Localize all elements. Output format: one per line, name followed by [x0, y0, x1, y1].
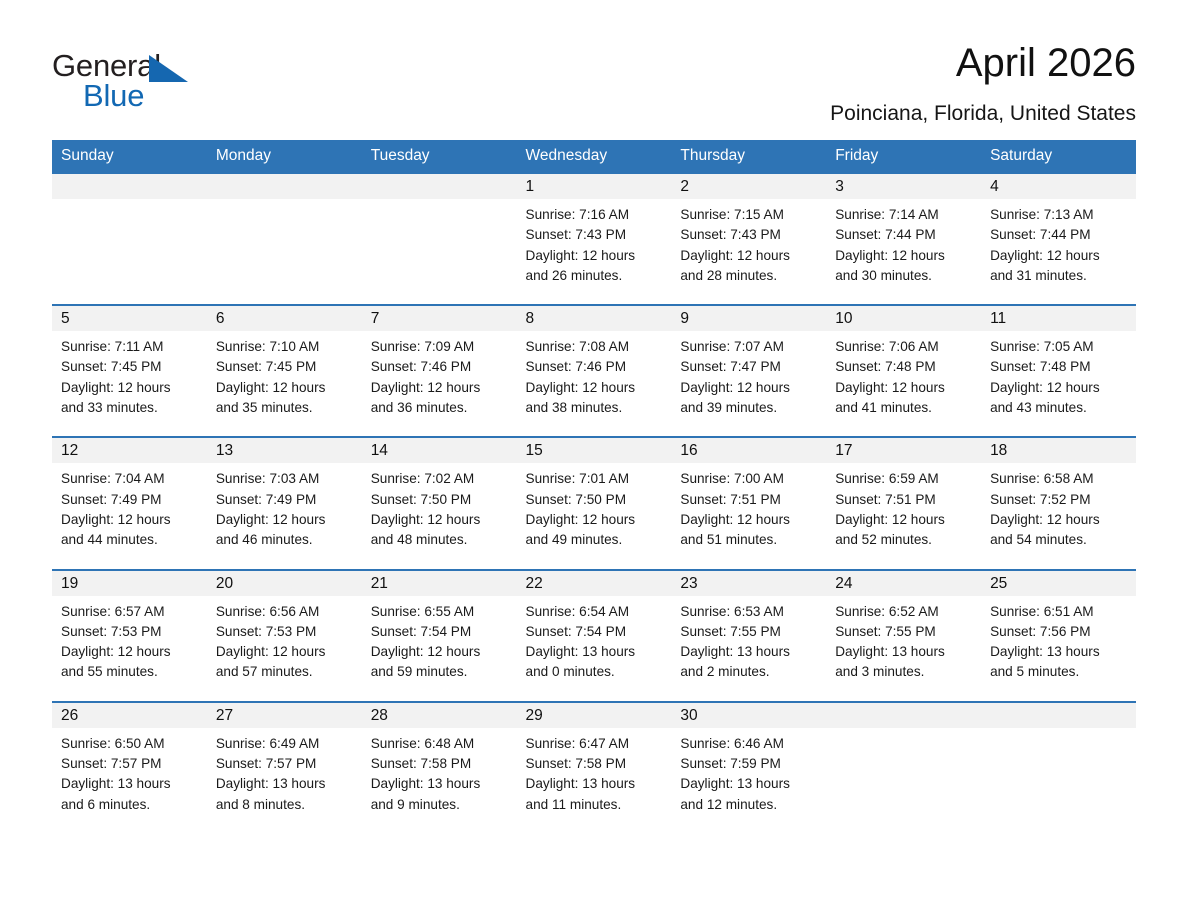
day-detail-daylight2: and 31 minutes.	[990, 266, 1127, 286]
calendar-day-cell[interactable]: 15Sunrise: 7:01 AMSunset: 7:50 PMDayligh…	[517, 437, 672, 569]
day-detail-sunset: Sunset: 7:46 PM	[371, 357, 508, 377]
day-details	[826, 728, 981, 813]
day-detail-sunset: Sunset: 7:43 PM	[680, 225, 817, 245]
calendar-day-cell[interactable]: 6Sunrise: 7:10 AMSunset: 7:45 PMDaylight…	[207, 305, 362, 437]
day-number: 16	[671, 438, 826, 463]
day-detail-daylight2: and 28 minutes.	[680, 266, 817, 286]
day-details: Sunrise: 6:56 AMSunset: 7:53 PMDaylight:…	[207, 596, 362, 701]
day-detail-daylight2: and 51 minutes.	[680, 530, 817, 550]
calendar-head: Sunday Monday Tuesday Wednesday Thursday…	[52, 140, 1136, 173]
day-detail-daylight2: and 12 minutes.	[680, 795, 817, 815]
day-detail-daylight2: and 46 minutes.	[216, 530, 353, 550]
day-number: 23	[671, 571, 826, 596]
day-detail-sunrise: Sunrise: 6:59 AM	[835, 469, 972, 489]
day-detail-sunrise: Sunrise: 7:13 AM	[990, 205, 1127, 225]
day-details: Sunrise: 6:46 AMSunset: 7:59 PMDaylight:…	[671, 728, 826, 833]
day-details: Sunrise: 6:48 AMSunset: 7:58 PMDaylight:…	[362, 728, 517, 833]
day-details: Sunrise: 7:01 AMSunset: 7:50 PMDaylight:…	[517, 463, 672, 568]
day-details: Sunrise: 6:50 AMSunset: 7:57 PMDaylight:…	[52, 728, 207, 833]
day-detail-sunset: Sunset: 7:53 PM	[216, 622, 353, 642]
day-number: 11	[981, 306, 1136, 331]
calendar-day-cell[interactable]: 18Sunrise: 6:58 AMSunset: 7:52 PMDayligh…	[981, 437, 1136, 569]
day-details: Sunrise: 6:51 AMSunset: 7:56 PMDaylight:…	[981, 596, 1136, 701]
day-detail-sunrise: Sunrise: 6:57 AM	[61, 602, 198, 622]
day-detail-sunset: Sunset: 7:52 PM	[990, 490, 1127, 510]
day-number: 21	[362, 571, 517, 596]
day-detail-daylight1: Daylight: 12 hours	[371, 642, 508, 662]
day-detail-sunset: Sunset: 7:50 PM	[371, 490, 508, 510]
day-number: 2	[671, 174, 826, 199]
title-block: April 2026 Poinciana, Florida, United St…	[830, 40, 1136, 126]
weekday-header-wednesday: Wednesday	[517, 140, 672, 173]
calendar-day-cell[interactable]: 26Sunrise: 6:50 AMSunset: 7:57 PMDayligh…	[52, 702, 207, 833]
day-detail-sunrise: Sunrise: 6:48 AM	[371, 734, 508, 754]
day-detail-sunset: Sunset: 7:47 PM	[680, 357, 817, 377]
day-detail-sunrise: Sunrise: 6:58 AM	[990, 469, 1127, 489]
calendar-empty-cell	[981, 702, 1136, 833]
day-number: 4	[981, 174, 1136, 199]
day-detail-sunrise: Sunrise: 6:49 AM	[216, 734, 353, 754]
day-detail-sunset: Sunset: 7:58 PM	[371, 754, 508, 774]
calendar-day-cell[interactable]: 23Sunrise: 6:53 AMSunset: 7:55 PMDayligh…	[671, 570, 826, 702]
day-detail-daylight1: Daylight: 12 hours	[835, 246, 972, 266]
day-details: Sunrise: 7:04 AMSunset: 7:49 PMDaylight:…	[52, 463, 207, 568]
calendar-day-cell[interactable]: 17Sunrise: 6:59 AMSunset: 7:51 PMDayligh…	[826, 437, 981, 569]
calendar-body: 1Sunrise: 7:16 AMSunset: 7:43 PMDaylight…	[52, 173, 1136, 833]
day-detail-sunrise: Sunrise: 6:50 AM	[61, 734, 198, 754]
day-detail-sunset: Sunset: 7:57 PM	[216, 754, 353, 774]
day-number: 7	[362, 306, 517, 331]
day-detail-daylight1: Daylight: 13 hours	[526, 774, 663, 794]
day-detail-sunset: Sunset: 7:49 PM	[61, 490, 198, 510]
calendar-day-cell[interactable]: 16Sunrise: 7:00 AMSunset: 7:51 PMDayligh…	[671, 437, 826, 569]
calendar-day-cell[interactable]: 9Sunrise: 7:07 AMSunset: 7:47 PMDaylight…	[671, 305, 826, 437]
day-detail-sunset: Sunset: 7:48 PM	[835, 357, 972, 377]
day-detail-daylight2: and 9 minutes.	[371, 795, 508, 815]
day-detail-daylight1: Daylight: 12 hours	[835, 510, 972, 530]
calendar-day-cell[interactable]: 3Sunrise: 7:14 AMSunset: 7:44 PMDaylight…	[826, 173, 981, 305]
day-detail-daylight2: and 26 minutes.	[526, 266, 663, 286]
day-detail-daylight2: and 52 minutes.	[835, 530, 972, 550]
day-detail-daylight2: and 5 minutes.	[990, 662, 1127, 682]
day-number: 18	[981, 438, 1136, 463]
day-number: 28	[362, 703, 517, 728]
day-details	[207, 199, 362, 284]
calendar-week-row: 26Sunrise: 6:50 AMSunset: 7:57 PMDayligh…	[52, 702, 1136, 833]
day-details: Sunrise: 6:57 AMSunset: 7:53 PMDaylight:…	[52, 596, 207, 701]
day-number	[207, 174, 362, 199]
day-detail-sunrise: Sunrise: 6:54 AM	[526, 602, 663, 622]
day-detail-sunset: Sunset: 7:43 PM	[526, 225, 663, 245]
day-details: Sunrise: 7:08 AMSunset: 7:46 PMDaylight:…	[517, 331, 672, 436]
day-detail-sunrise: Sunrise: 6:52 AM	[835, 602, 972, 622]
day-detail-sunrise: Sunrise: 7:16 AM	[526, 205, 663, 225]
day-detail-daylight1: Daylight: 12 hours	[216, 642, 353, 662]
day-details: Sunrise: 7:05 AMSunset: 7:48 PMDaylight:…	[981, 331, 1136, 436]
day-detail-daylight1: Daylight: 12 hours	[371, 378, 508, 398]
day-number: 9	[671, 306, 826, 331]
day-detail-sunrise: Sunrise: 7:06 AM	[835, 337, 972, 357]
day-detail-daylight1: Daylight: 12 hours	[680, 510, 817, 530]
day-number: 26	[52, 703, 207, 728]
calendar-day-cell[interactable]: 7Sunrise: 7:09 AMSunset: 7:46 PMDaylight…	[362, 305, 517, 437]
calendar-week-row: 5Sunrise: 7:11 AMSunset: 7:45 PMDaylight…	[52, 305, 1136, 437]
day-detail-daylight2: and 11 minutes.	[526, 795, 663, 815]
day-number: 29	[517, 703, 672, 728]
day-detail-daylight2: and 36 minutes.	[371, 398, 508, 418]
day-number: 30	[671, 703, 826, 728]
day-number: 24	[826, 571, 981, 596]
day-detail-daylight2: and 2 minutes.	[680, 662, 817, 682]
day-detail-sunrise: Sunrise: 7:01 AM	[526, 469, 663, 489]
calendar-page: General Blue April 2026 Poinciana, Flori…	[0, 0, 1188, 918]
day-number	[52, 174, 207, 199]
day-number	[826, 703, 981, 728]
day-detail-sunset: Sunset: 7:55 PM	[680, 622, 817, 642]
day-number	[981, 703, 1136, 728]
day-number: 25	[981, 571, 1136, 596]
calendar-empty-cell	[52, 173, 207, 305]
day-detail-sunset: Sunset: 7:51 PM	[680, 490, 817, 510]
day-details: Sunrise: 7:00 AMSunset: 7:51 PMDaylight:…	[671, 463, 826, 568]
weekday-header-monday: Monday	[207, 140, 362, 173]
weekday-header-tuesday: Tuesday	[362, 140, 517, 173]
day-detail-sunset: Sunset: 7:45 PM	[216, 357, 353, 377]
calendar-day-cell[interactable]: 14Sunrise: 7:02 AMSunset: 7:50 PMDayligh…	[362, 437, 517, 569]
day-detail-sunset: Sunset: 7:57 PM	[61, 754, 198, 774]
day-detail-daylight2: and 35 minutes.	[216, 398, 353, 418]
day-detail-daylight2: and 49 minutes.	[526, 530, 663, 550]
day-detail-sunrise: Sunrise: 7:03 AM	[216, 469, 353, 489]
day-number: 20	[207, 571, 362, 596]
calendar-day-cell[interactable]: 13Sunrise: 7:03 AMSunset: 7:49 PMDayligh…	[207, 437, 362, 569]
day-number: 13	[207, 438, 362, 463]
day-number: 14	[362, 438, 517, 463]
day-detail-sunrise: Sunrise: 6:47 AM	[526, 734, 663, 754]
day-number: 3	[826, 174, 981, 199]
day-detail-sunrise: Sunrise: 6:55 AM	[371, 602, 508, 622]
weekday-header-friday: Friday	[826, 140, 981, 173]
page-header: General Blue April 2026 Poinciana, Flori…	[52, 0, 1136, 118]
day-detail-daylight1: Daylight: 13 hours	[835, 642, 972, 662]
day-number: 15	[517, 438, 672, 463]
day-detail-daylight2: and 48 minutes.	[371, 530, 508, 550]
day-detail-daylight1: Daylight: 12 hours	[216, 510, 353, 530]
calendar-day-cell[interactable]: 19Sunrise: 6:57 AMSunset: 7:53 PMDayligh…	[52, 570, 207, 702]
day-detail-daylight1: Daylight: 12 hours	[990, 246, 1127, 266]
calendar-day-cell[interactable]: 5Sunrise: 7:11 AMSunset: 7:45 PMDaylight…	[52, 305, 207, 437]
calendar-week-row: 12Sunrise: 7:04 AMSunset: 7:49 PMDayligh…	[52, 437, 1136, 569]
day-details: Sunrise: 6:58 AMSunset: 7:52 PMDaylight:…	[981, 463, 1136, 568]
logo-word-blue: Blue	[83, 78, 144, 114]
calendar-day-cell[interactable]: 2Sunrise: 7:15 AMSunset: 7:43 PMDaylight…	[671, 173, 826, 305]
calendar-day-cell[interactable]: 24Sunrise: 6:52 AMSunset: 7:55 PMDayligh…	[826, 570, 981, 702]
day-detail-daylight2: and 43 minutes.	[990, 398, 1127, 418]
day-details: Sunrise: 6:54 AMSunset: 7:54 PMDaylight:…	[517, 596, 672, 701]
day-detail-daylight1: Daylight: 13 hours	[526, 642, 663, 662]
page-subtitle: Poinciana, Florida, United States	[830, 102, 1136, 126]
day-detail-daylight1: Daylight: 12 hours	[61, 642, 198, 662]
calendar-day-cell[interactable]: 11Sunrise: 7:05 AMSunset: 7:48 PMDayligh…	[981, 305, 1136, 437]
day-number: 10	[826, 306, 981, 331]
day-details: Sunrise: 7:07 AMSunset: 7:47 PMDaylight:…	[671, 331, 826, 436]
day-details: Sunrise: 7:13 AMSunset: 7:44 PMDaylight:…	[981, 199, 1136, 304]
day-detail-daylight1: Daylight: 13 hours	[61, 774, 198, 794]
day-detail-daylight2: and 0 minutes.	[526, 662, 663, 682]
day-details: Sunrise: 7:09 AMSunset: 7:46 PMDaylight:…	[362, 331, 517, 436]
day-detail-daylight2: and 41 minutes.	[835, 398, 972, 418]
day-detail-daylight2: and 6 minutes.	[61, 795, 198, 815]
day-details: Sunrise: 7:02 AMSunset: 7:50 PMDaylight:…	[362, 463, 517, 568]
day-detail-sunrise: Sunrise: 6:51 AM	[990, 602, 1127, 622]
calendar-day-cell[interactable]: 21Sunrise: 6:55 AMSunset: 7:54 PMDayligh…	[362, 570, 517, 702]
day-detail-daylight1: Daylight: 13 hours	[680, 774, 817, 794]
day-detail-sunset: Sunset: 7:50 PM	[526, 490, 663, 510]
day-detail-sunset: Sunset: 7:45 PM	[61, 357, 198, 377]
day-detail-sunset: Sunset: 7:44 PM	[990, 225, 1127, 245]
day-number: 17	[826, 438, 981, 463]
calendar-day-cell[interactable]: 27Sunrise: 6:49 AMSunset: 7:57 PMDayligh…	[207, 702, 362, 833]
day-detail-daylight1: Daylight: 12 hours	[371, 510, 508, 530]
calendar-day-cell[interactable]: 4Sunrise: 7:13 AMSunset: 7:44 PMDaylight…	[981, 173, 1136, 305]
day-details	[362, 199, 517, 284]
weekday-header-sunday: Sunday	[52, 140, 207, 173]
calendar-day-cell[interactable]: 1Sunrise: 7:16 AMSunset: 7:43 PMDaylight…	[517, 173, 672, 305]
day-detail-sunrise: Sunrise: 7:08 AM	[526, 337, 663, 357]
day-detail-sunrise: Sunrise: 7:04 AM	[61, 469, 198, 489]
day-detail-daylight1: Daylight: 12 hours	[216, 378, 353, 398]
day-number: 5	[52, 306, 207, 331]
calendar-day-cell[interactable]: 22Sunrise: 6:54 AMSunset: 7:54 PMDayligh…	[517, 570, 672, 702]
day-detail-daylight2: and 38 minutes.	[526, 398, 663, 418]
weekday-header-saturday: Saturday	[981, 140, 1136, 173]
day-details: Sunrise: 7:11 AMSunset: 7:45 PMDaylight:…	[52, 331, 207, 436]
calendar-day-cell[interactable]: 20Sunrise: 6:56 AMSunset: 7:53 PMDayligh…	[207, 570, 362, 702]
day-detail-daylight1: Daylight: 13 hours	[680, 642, 817, 662]
day-detail-sunrise: Sunrise: 7:00 AM	[680, 469, 817, 489]
day-number: 1	[517, 174, 672, 199]
day-number	[362, 174, 517, 199]
day-detail-daylight1: Daylight: 13 hours	[216, 774, 353, 794]
day-detail-daylight2: and 8 minutes.	[216, 795, 353, 815]
day-detail-sunset: Sunset: 7:53 PM	[61, 622, 198, 642]
calendar-day-cell[interactable]: 29Sunrise: 6:47 AMSunset: 7:58 PMDayligh…	[517, 702, 672, 833]
logo-triangle-icon	[149, 55, 188, 82]
day-details: Sunrise: 7:06 AMSunset: 7:48 PMDaylight:…	[826, 331, 981, 436]
day-detail-daylight2: and 57 minutes.	[216, 662, 353, 682]
day-detail-daylight2: and 59 minutes.	[371, 662, 508, 682]
calendar-day-cell[interactable]: 8Sunrise: 7:08 AMSunset: 7:46 PMDaylight…	[517, 305, 672, 437]
day-detail-sunrise: Sunrise: 7:11 AM	[61, 337, 198, 357]
day-details: Sunrise: 6:55 AMSunset: 7:54 PMDaylight:…	[362, 596, 517, 701]
day-detail-sunset: Sunset: 7:49 PM	[216, 490, 353, 510]
day-detail-sunrise: Sunrise: 6:53 AM	[680, 602, 817, 622]
day-detail-sunrise: Sunrise: 7:09 AM	[371, 337, 508, 357]
day-detail-daylight2: and 44 minutes.	[61, 530, 198, 550]
day-number: 22	[517, 571, 672, 596]
calendar-day-cell[interactable]: 12Sunrise: 7:04 AMSunset: 7:49 PMDayligh…	[52, 437, 207, 569]
calendar-day-cell[interactable]: 30Sunrise: 6:46 AMSunset: 7:59 PMDayligh…	[671, 702, 826, 833]
day-details	[981, 728, 1136, 813]
day-details: Sunrise: 7:16 AMSunset: 7:43 PMDaylight:…	[517, 199, 672, 304]
calendar-empty-cell	[207, 173, 362, 305]
calendar-day-cell[interactable]: 10Sunrise: 7:06 AMSunset: 7:48 PMDayligh…	[826, 305, 981, 437]
day-number: 8	[517, 306, 672, 331]
day-detail-daylight2: and 54 minutes.	[990, 530, 1127, 550]
day-detail-sunset: Sunset: 7:59 PM	[680, 754, 817, 774]
day-detail-daylight2: and 33 minutes.	[61, 398, 198, 418]
general-blue-logo[interactable]: General Blue	[52, 40, 202, 106]
day-detail-daylight1: Daylight: 12 hours	[526, 378, 663, 398]
day-detail-daylight1: Daylight: 12 hours	[526, 510, 663, 530]
weekday-header-row: Sunday Monday Tuesday Wednesday Thursday…	[52, 140, 1136, 173]
day-number: 19	[52, 571, 207, 596]
day-detail-daylight1: Daylight: 12 hours	[61, 510, 198, 530]
day-detail-daylight2: and 39 minutes.	[680, 398, 817, 418]
day-detail-daylight1: Daylight: 13 hours	[990, 642, 1127, 662]
day-details: Sunrise: 6:49 AMSunset: 7:57 PMDaylight:…	[207, 728, 362, 833]
day-details: Sunrise: 7:03 AMSunset: 7:49 PMDaylight:…	[207, 463, 362, 568]
day-number: 27	[207, 703, 362, 728]
day-detail-daylight1: Daylight: 12 hours	[835, 378, 972, 398]
weekday-header-thursday: Thursday	[671, 140, 826, 173]
day-detail-sunrise: Sunrise: 7:10 AM	[216, 337, 353, 357]
day-details: Sunrise: 6:52 AMSunset: 7:55 PMDaylight:…	[826, 596, 981, 701]
day-details: Sunrise: 6:59 AMSunset: 7:51 PMDaylight:…	[826, 463, 981, 568]
day-detail-sunrise: Sunrise: 7:14 AM	[835, 205, 972, 225]
calendar-week-row: 1Sunrise: 7:16 AMSunset: 7:43 PMDaylight…	[52, 173, 1136, 305]
day-details: Sunrise: 7:14 AMSunset: 7:44 PMDaylight:…	[826, 199, 981, 304]
day-number: 6	[207, 306, 362, 331]
day-details: Sunrise: 6:53 AMSunset: 7:55 PMDaylight:…	[671, 596, 826, 701]
day-detail-daylight2: and 30 minutes.	[835, 266, 972, 286]
day-details: Sunrise: 6:47 AMSunset: 7:58 PMDaylight:…	[517, 728, 672, 833]
day-detail-sunset: Sunset: 7:55 PM	[835, 622, 972, 642]
day-details: Sunrise: 7:10 AMSunset: 7:45 PMDaylight:…	[207, 331, 362, 436]
day-detail-daylight1: Daylight: 12 hours	[990, 510, 1127, 530]
calendar-week-row: 19Sunrise: 6:57 AMSunset: 7:53 PMDayligh…	[52, 570, 1136, 702]
calendar-day-cell[interactable]: 28Sunrise: 6:48 AMSunset: 7:58 PMDayligh…	[362, 702, 517, 833]
day-detail-sunrise: Sunrise: 7:05 AM	[990, 337, 1127, 357]
day-detail-daylight1: Daylight: 12 hours	[680, 246, 817, 266]
day-detail-daylight1: Daylight: 12 hours	[526, 246, 663, 266]
calendar-empty-cell	[826, 702, 981, 833]
day-detail-sunset: Sunset: 7:56 PM	[990, 622, 1127, 642]
day-detail-sunrise: Sunrise: 7:07 AM	[680, 337, 817, 357]
day-detail-daylight2: and 3 minutes.	[835, 662, 972, 682]
day-detail-sunset: Sunset: 7:46 PM	[526, 357, 663, 377]
day-detail-daylight1: Daylight: 12 hours	[990, 378, 1127, 398]
day-detail-sunset: Sunset: 7:54 PM	[526, 622, 663, 642]
day-detail-sunset: Sunset: 7:48 PM	[990, 357, 1127, 377]
day-details	[52, 199, 207, 284]
day-detail-sunset: Sunset: 7:58 PM	[526, 754, 663, 774]
page-title: April 2026	[830, 42, 1136, 84]
calendar-table: Sunday Monday Tuesday Wednesday Thursday…	[52, 140, 1136, 833]
day-detail-sunset: Sunset: 7:51 PM	[835, 490, 972, 510]
day-detail-daylight1: Daylight: 12 hours	[61, 378, 198, 398]
day-detail-sunset: Sunset: 7:44 PM	[835, 225, 972, 245]
calendar-day-cell[interactable]: 25Sunrise: 6:51 AMSunset: 7:56 PMDayligh…	[981, 570, 1136, 702]
day-detail-daylight1: Daylight: 12 hours	[680, 378, 817, 398]
day-detail-daylight1: Daylight: 13 hours	[371, 774, 508, 794]
day-detail-sunrise: Sunrise: 6:56 AM	[216, 602, 353, 622]
calendar-empty-cell	[362, 173, 517, 305]
day-detail-sunrise: Sunrise: 6:46 AM	[680, 734, 817, 754]
day-detail-sunset: Sunset: 7:54 PM	[371, 622, 508, 642]
day-number: 12	[52, 438, 207, 463]
day-detail-sunrise: Sunrise: 7:15 AM	[680, 205, 817, 225]
day-detail-sunrise: Sunrise: 7:02 AM	[371, 469, 508, 489]
day-detail-daylight2: and 55 minutes.	[61, 662, 198, 682]
day-details: Sunrise: 7:15 AMSunset: 7:43 PMDaylight:…	[671, 199, 826, 304]
